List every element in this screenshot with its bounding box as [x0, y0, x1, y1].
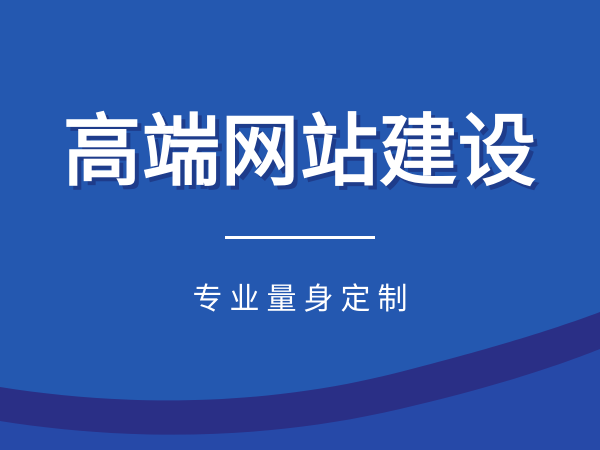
- page-subtitle: 专业量身定制: [186, 285, 415, 315]
- page-title: 高端网站建设: [63, 112, 537, 190]
- promo-banner: 高端网站建设 专业量身定制: [0, 0, 600, 450]
- title-divider: [225, 236, 375, 239]
- banner-content: 高端网站建设 专业量身定制: [0, 0, 600, 450]
